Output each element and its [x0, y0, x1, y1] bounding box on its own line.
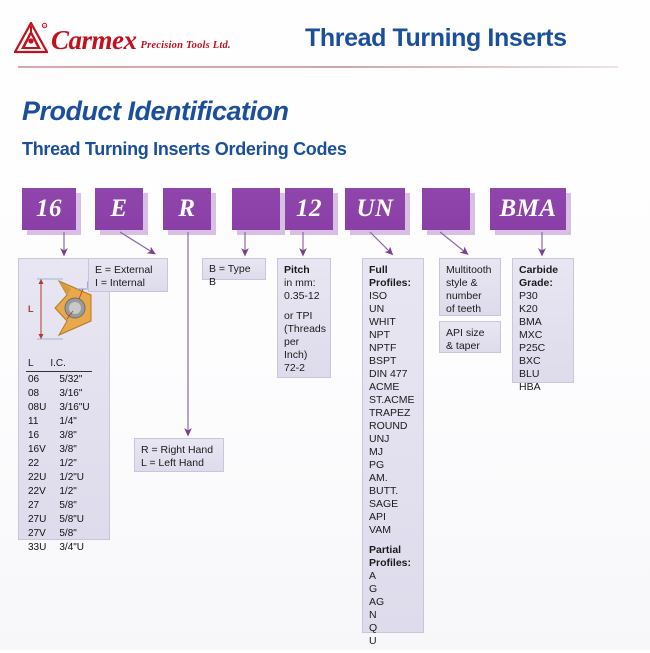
- cell-l: 22U: [26, 470, 48, 484]
- profiles-spacer: [369, 537, 417, 544]
- grade-item: P25C: [519, 342, 567, 355]
- code-box-hand-type[interactable]: E: [95, 188, 143, 230]
- brand-tagline: Precision Tools Ltd.: [141, 41, 231, 52]
- api-line-2: & taper: [446, 340, 494, 353]
- full-profiles-list: ISOUNWHITNPTNPTFBSPTDIN 477ACMEST.ACMETR…: [369, 290, 417, 537]
- page-root: R Carmex Precision Tools Ltd. Thread Tur…: [0, 0, 650, 650]
- pitch-line-5: (Threads: [284, 323, 324, 336]
- col-header-ic: I.C.: [48, 357, 91, 372]
- cell-ic: 3/16"U: [48, 400, 91, 414]
- multitooth-line-4: of teeth: [446, 303, 494, 316]
- hand-type-line-1: E = External: [95, 264, 161, 277]
- cell-l: 08U: [26, 400, 48, 414]
- cell-l: 27U: [26, 512, 48, 526]
- cell-ic: 1/2": [48, 484, 91, 498]
- insert-dimension-box: I.C. L L I.C. 065/32"083/16"08U3/16"U111…: [18, 258, 110, 540]
- full-profile-item: BSPT: [369, 355, 417, 368]
- hand-type-box: E = External I = Internal: [88, 258, 168, 292]
- table-row: 083/16": [26, 386, 92, 400]
- cell-ic: 5/8"U: [48, 512, 91, 526]
- multitooth-line-1: Multitooth: [446, 264, 494, 277]
- cell-l: 22: [26, 456, 48, 470]
- code-box-grade[interactable]: BMA: [490, 188, 566, 230]
- dimension-table: L I.C. 065/32"083/16"08U3/16"U111/4"163/…: [26, 357, 92, 554]
- cell-ic: 3/8": [48, 442, 91, 456]
- full-profile-item: ACME: [369, 381, 417, 394]
- grade-item: HBA: [519, 381, 567, 394]
- cell-ic: 3/16": [48, 386, 91, 400]
- pitch-heading: Pitch: [284, 264, 324, 277]
- full-profile-item: TRAPEZ: [369, 407, 417, 420]
- full-profile-item: UN: [369, 303, 417, 316]
- table-row: 111/4": [26, 414, 92, 428]
- cell-ic: 1/4": [48, 414, 91, 428]
- table-row: 22V1/2": [26, 484, 92, 498]
- header-title: Thread Turning Inserts: [305, 24, 567, 53]
- code-box-profile[interactable]: UN: [345, 188, 405, 230]
- partial-profile-item: AG: [369, 596, 417, 609]
- cell-ic: 1/2": [48, 456, 91, 470]
- cell-ic: 3/8": [48, 428, 91, 442]
- full-profile-item: UNJ: [369, 433, 417, 446]
- page-subtitle: Thread Turning Inserts Ordering Codes: [22, 139, 347, 160]
- profiles-heading-partial-1: Partial: [369, 544, 417, 557]
- cell-l: 08: [26, 386, 48, 400]
- partial-profile-item: N: [369, 609, 417, 622]
- multitooth-line-2: style &: [446, 277, 494, 290]
- multitooth-box: Multitooth style & number of teeth: [439, 258, 501, 316]
- full-profile-item: SAGE: [369, 498, 417, 511]
- brand-name: Carmex: [51, 27, 137, 54]
- multitooth-line-3: number: [446, 290, 494, 303]
- full-profile-item: PG: [369, 459, 417, 472]
- pitch-line-6: per Inch): [284, 336, 324, 362]
- pitch-box: Pitch in mm: 0.35-12 or TPI (Threads per…: [277, 258, 331, 378]
- direction-box: R = Right Hand L = Left Hand: [134, 438, 224, 472]
- full-profile-item: NPT: [369, 329, 417, 342]
- code-box-direction[interactable]: [232, 188, 280, 230]
- profiles-heading-partial-2: Profiles:: [369, 557, 417, 570]
- api-line-1: API size: [446, 327, 494, 340]
- full-profile-item: MJ: [369, 446, 417, 459]
- partial-profile-item: G: [369, 583, 417, 596]
- code-box-profile-label: UN: [356, 195, 393, 223]
- col-header-l: L: [26, 357, 48, 372]
- full-profile-item: API: [369, 511, 417, 524]
- code-box-pitch-label: 12: [296, 195, 322, 223]
- page-header: R Carmex Precision Tools Ltd. Thread Tur…: [0, 0, 650, 72]
- table-row: 33U3/4"U: [26, 540, 92, 554]
- cell-l: 11: [26, 414, 48, 428]
- cell-ic: 5/8": [48, 526, 91, 540]
- cell-l: 33U: [26, 540, 48, 554]
- type-b-line-1: B = Type B: [209, 263, 259, 289]
- grade-item: P30: [519, 290, 567, 303]
- cell-l: 16: [26, 428, 48, 442]
- pitch-line-1: in mm:: [284, 277, 324, 290]
- table-row: 275/8": [26, 498, 92, 512]
- insert-label-l: L: [28, 303, 34, 316]
- grade-item: BMA: [519, 316, 567, 329]
- cell-ic: 5/32": [48, 372, 91, 387]
- table-row: 065/32": [26, 372, 92, 387]
- page-title: Product Identification: [22, 96, 289, 127]
- code-box-multitooth[interactable]: [422, 188, 470, 230]
- table-row: 16V3/8": [26, 442, 92, 456]
- brand-logo: R Carmex Precision Tools Ltd.: [14, 22, 231, 54]
- grade-item: BLU: [519, 368, 567, 381]
- carbide-grade-box: Carbide Grade: P30K20BMAMXCP25CBXCBLUHBA: [512, 258, 574, 383]
- table-header-row: L I.C.: [26, 357, 92, 372]
- code-box-type-label: R: [178, 195, 195, 223]
- cell-l: 16V: [26, 442, 48, 456]
- pitch-line-4: or TPI: [284, 310, 324, 323]
- cell-ic: 5/8": [48, 498, 91, 512]
- partial-profile-item: A: [369, 570, 417, 583]
- full-profile-item: ISO: [369, 290, 417, 303]
- partial-profile-item: Q: [369, 622, 417, 635]
- grade-item: MXC: [519, 329, 567, 342]
- full-profile-item: ROUND: [369, 420, 417, 433]
- table-row: 27V5/8": [26, 526, 92, 540]
- direction-line-2: L = Left Hand: [141, 457, 217, 470]
- full-profile-item: VAM: [369, 524, 417, 537]
- cell-l: 27V: [26, 526, 48, 540]
- direction-line-1: R = Right Hand: [141, 444, 217, 457]
- full-profile-item: WHIT: [369, 316, 417, 329]
- hand-type-line-2: I = Internal: [95, 277, 161, 290]
- full-profile-item: NPTF: [369, 342, 417, 355]
- code-box-size[interactable]: 16: [22, 188, 76, 230]
- code-box-grade-label: BMA: [499, 195, 556, 223]
- cell-ic: 3/4"U: [48, 540, 91, 554]
- api-box: API size & taper: [439, 321, 501, 353]
- table-row: 221/2": [26, 456, 92, 470]
- carmex-triangle-logo-icon: R: [14, 22, 48, 54]
- full-profile-item: AM. BUTT.: [369, 472, 417, 498]
- profiles-heading-full-1: Full: [369, 264, 417, 277]
- type-b-box: B = Type B: [202, 258, 266, 280]
- table-row: 163/8": [26, 428, 92, 442]
- cell-ic: 1/2"U: [48, 470, 91, 484]
- table-row: 27U5/8"U: [26, 512, 92, 526]
- header-divider: [18, 66, 618, 68]
- pitch-spacer: [284, 303, 324, 310]
- grade-heading-2: Grade:: [519, 277, 567, 290]
- table-row: 22U1/2"U: [26, 470, 92, 484]
- code-box-type[interactable]: R: [163, 188, 211, 230]
- partial-profiles-list: AGAGNQU: [369, 570, 417, 648]
- full-profile-item: DIN 477: [369, 368, 417, 381]
- profiles-heading-full-2: Profiles:: [369, 277, 417, 290]
- full-profile-item: ST.ACME: [369, 394, 417, 407]
- code-box-pitch[interactable]: 12: [285, 188, 333, 230]
- table-row: 08U3/16"U: [26, 400, 92, 414]
- code-box-size-label: 16: [36, 195, 62, 223]
- cell-l: 22V: [26, 484, 48, 498]
- profiles-box: Full Profiles: ISOUNWHITNPTNPTFBSPTDIN 4…: [362, 258, 424, 633]
- cell-l: 06: [26, 372, 48, 387]
- pitch-line-7: 72-2: [284, 362, 324, 375]
- grade-list: P30K20BMAMXCP25CBXCBLUHBA: [519, 290, 567, 394]
- grade-item: BXC: [519, 355, 567, 368]
- grade-item: K20: [519, 303, 567, 316]
- pitch-line-2: 0.35-12: [284, 290, 324, 303]
- partial-profile-item: U: [369, 635, 417, 648]
- code-box-hand-type-label: E: [110, 195, 127, 223]
- cell-l: 27: [26, 498, 48, 512]
- grade-heading-1: Carbide: [519, 264, 567, 277]
